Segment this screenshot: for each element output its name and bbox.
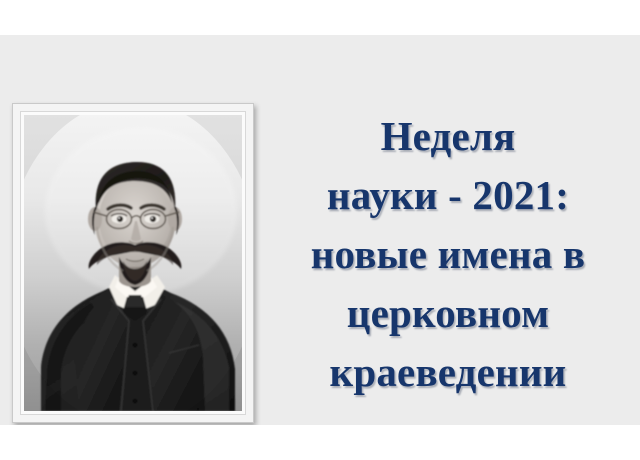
slide-title: Неделя науки - 2021: новые имена в церко… <box>262 107 634 402</box>
letterbox-band-top <box>0 0 640 35</box>
portrait-frame <box>12 103 254 423</box>
title-line-2: науки - 2021: <box>262 166 634 225</box>
slide-canvas: Неделя науки - 2021: новые имена в церко… <box>0 0 640 460</box>
title-line-5: краеведении <box>262 343 634 402</box>
title-line-1: Неделя <box>262 107 634 166</box>
portrait-mat <box>20 111 246 415</box>
letterbox-band-bottom <box>0 425 640 460</box>
title-line-4: церковном <box>262 284 634 343</box>
slide-body: Неделя науки - 2021: новые имена в церко… <box>0 35 640 425</box>
portrait-photo <box>24 115 242 411</box>
title-line-3: новые имена в <box>262 225 634 284</box>
